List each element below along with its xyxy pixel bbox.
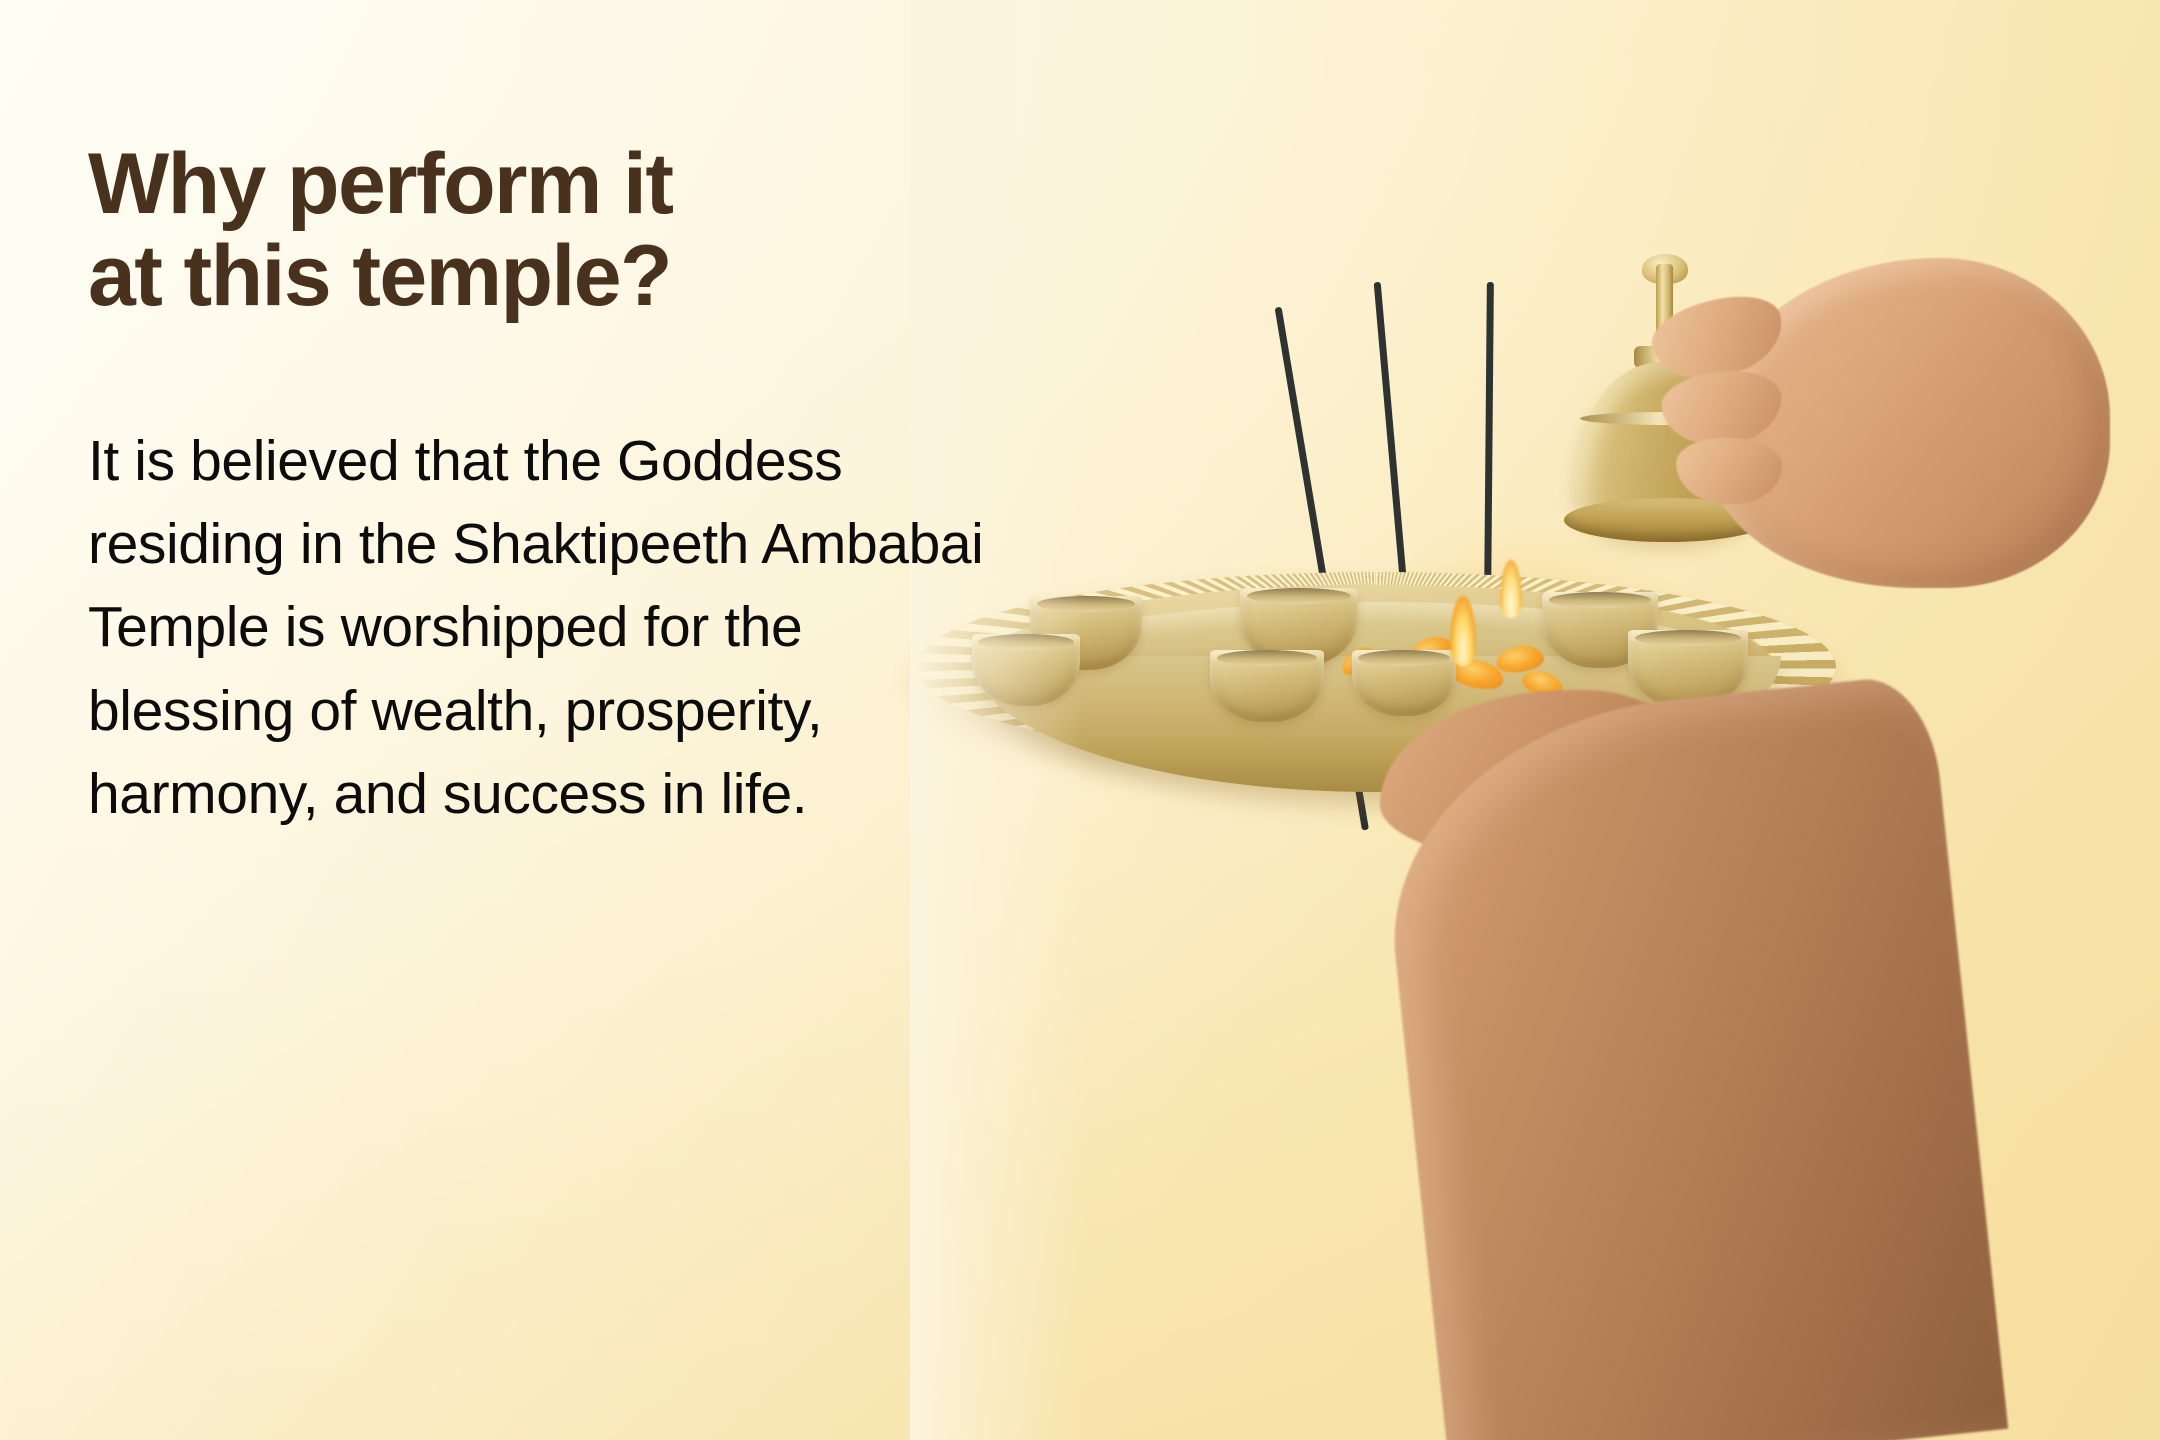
body-paragraph: It is believed that the Goddess residing… bbox=[88, 420, 1018, 836]
headline-line-2: at this temple? bbox=[88, 230, 1048, 322]
puja-thali-photo bbox=[910, 0, 2160, 1440]
page-title: Why perform it at this temple? bbox=[88, 138, 1048, 322]
text-column: Why perform it at this temple? It is bel… bbox=[88, 138, 1048, 836]
forearm bbox=[1372, 673, 2008, 1440]
headline-line-1: Why perform it bbox=[88, 136, 672, 232]
slide-canvas: Why perform it at this temple? It is bel… bbox=[0, 0, 2160, 1440]
